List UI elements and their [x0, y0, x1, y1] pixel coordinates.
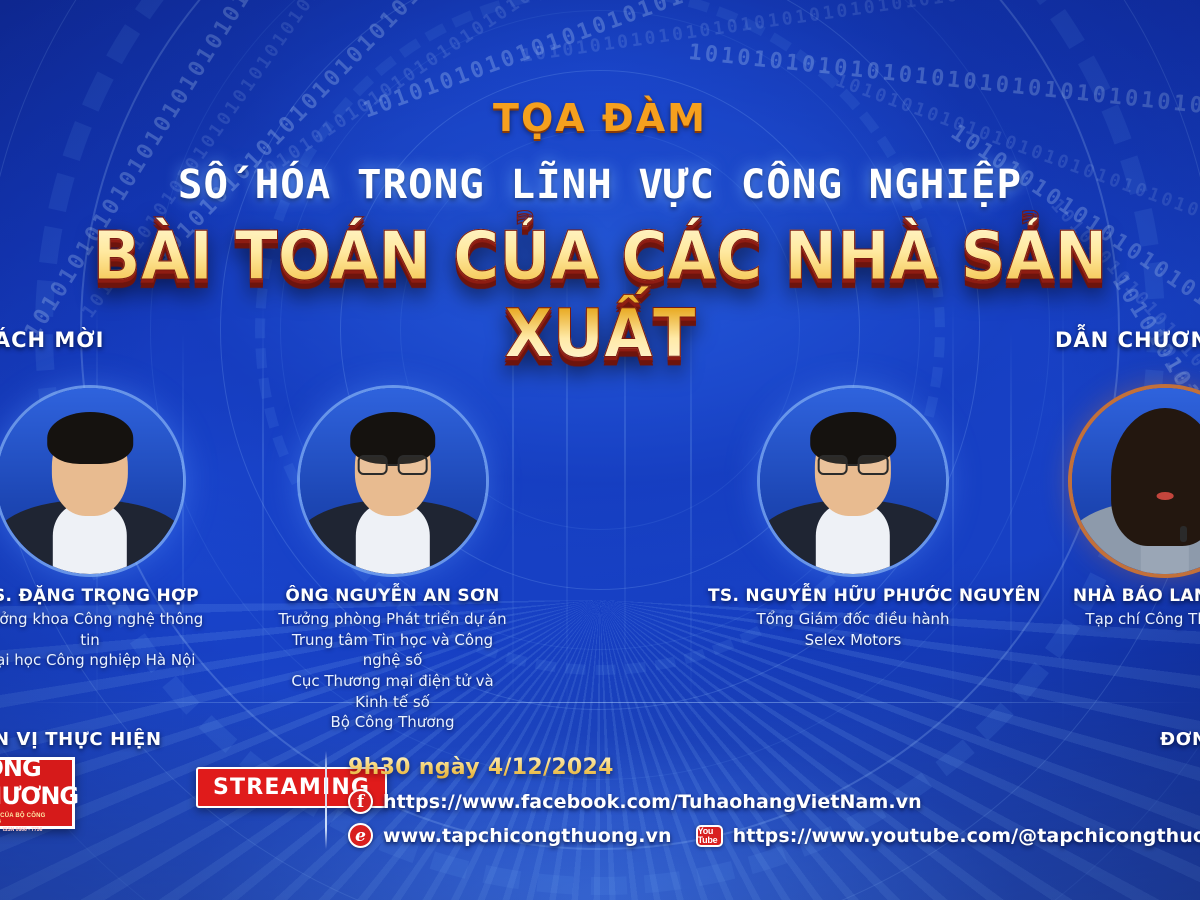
- speaker-name: TS. ĐẶNG TRỌNG HỢP: [0, 586, 205, 606]
- speaker-card-1: TS. ĐẶNG TRỌNG HỢP Trưởng khoa Công nghệ…: [0, 388, 205, 671]
- speaker-role-line: Selex Motors: [708, 630, 998, 651]
- title-block: TỌA ĐÀM SỐ HÓA TRONG LĨNH VỰC CÔNG NGHIỆ…: [0, 0, 1200, 368]
- speaker-card-4: NHÀ BÁO LAN ANH Tạp chí Công Thương: [1050, 388, 1200, 630]
- speaker-photo-placeholder: [0, 388, 183, 574]
- kicker-text: TỌA ĐÀM: [0, 96, 1200, 140]
- speaker-role-line: Trung tâm Tin học và Công nghệ số: [275, 630, 510, 671]
- youtube-url[interactable]: https://www.youtube.com/@tapchicongthuon…: [733, 825, 1200, 847]
- facebook-link-row[interactable]: f https://www.facebook.com/TuhaohangViet…: [348, 789, 1200, 814]
- bottom-info-bar: ĐƠN VỊ THỰC HIỆN ĐƠN VỊ CÔNG THƯƠNG TẠP …: [0, 715, 1200, 900]
- facebook-url[interactable]: https://www.facebook.com/TuhaohangVietNa…: [383, 791, 922, 813]
- speaker-card-3: TS. NGUYỄN HỮU PHƯỚC NGUYÊN Tổng Giám đố…: [708, 388, 998, 650]
- speaker-role-line: Đại học Công nghiệp Hà Nội: [0, 650, 205, 671]
- youtube-icon: You Tube: [696, 825, 723, 847]
- speaker-portrait: [0, 388, 183, 574]
- website-url[interactable]: www.tapchicongthuong.vn: [383, 825, 672, 847]
- speaker-role: Trưởng khoa Công nghệ thông tin Đại học …: [0, 609, 205, 671]
- website-icon: e: [348, 823, 373, 848]
- logo-subtitle: TẠP CHÍ CỦA BỘ CÔNG THƯƠNG: [0, 813, 72, 825]
- speaker-role-line: Tổng Giám đốc điều hành: [708, 609, 998, 630]
- subtitle-text: SỐ HÓA TRONG LĨNH VỰC CÔNG NGHIỆP: [0, 162, 1200, 208]
- unit-label: ĐƠN VỊ: [1160, 729, 1200, 750]
- speaker-name: ÔNG NGUYỄN AN SƠN: [275, 586, 510, 606]
- guest-section-label: KHÁCH MỜI: [0, 328, 104, 352]
- vertical-divider: [325, 751, 327, 849]
- speaker-role: Tạp chí Công Thương: [1050, 609, 1200, 630]
- speaker-card-2: ÔNG NGUYỄN AN SƠN Trưởng phòng Phát triể…: [275, 388, 510, 733]
- speaker-photo-placeholder: [760, 388, 946, 574]
- speaker-portrait: [1072, 388, 1200, 574]
- speaker-role-line: Trưởng khoa Công nghệ thông tin: [0, 609, 205, 650]
- speaker-name: TS. NGUYỄN HỮU PHƯỚC NGUYÊN: [708, 586, 998, 606]
- speaker-photo-placeholder: [1072, 388, 1200, 574]
- website-youtube-row[interactable]: e www.tapchicongthuong.vn You Tube https…: [348, 823, 1200, 848]
- speaker-name: NHÀ BÁO LAN ANH: [1050, 586, 1200, 606]
- congthuong-logo: CÔNG THƯƠNG TẠP CHÍ CỦA BỘ CÔNG THƯƠNG I…: [0, 757, 75, 829]
- speaker-portrait: [300, 388, 486, 574]
- event-datetime: 9h30 ngày 4/12/2024: [348, 755, 1200, 780]
- speaker-role: Tổng Giám đốc điều hành Selex Motors: [708, 609, 998, 650]
- logo-issn: ISSN 0866 - 7756: [3, 827, 43, 833]
- event-info: 9h30 ngày 4/12/2024 f https://www.facebo…: [348, 755, 1200, 848]
- speaker-role-line: Cục Thương mại điện tử và Kinh tế số: [275, 671, 510, 712]
- speaker-role-line: Trưởng phòng Phát triển dự án: [275, 609, 510, 630]
- poster-canvas: 1010101010101010101010101010101010101010…: [0, 0, 1200, 900]
- main-title: BÀI TOÁN CỦA CÁC NHÀ SẢN XUẤT: [0, 218, 1200, 373]
- horizon-line: [0, 702, 1200, 703]
- organizer-label: ĐƠN VỊ THỰC HIỆN: [0, 729, 162, 750]
- speaker-photo-placeholder: [300, 388, 486, 574]
- speaker-portrait: [760, 388, 946, 574]
- logo-title: CÔNG THƯƠNG: [0, 754, 78, 810]
- speaker-role-line: Tạp chí Công Thương: [1050, 609, 1200, 630]
- facebook-icon: f: [348, 789, 373, 814]
- host-section-label: DẪN CHƯƠNG TRÌNH: [1055, 328, 1200, 352]
